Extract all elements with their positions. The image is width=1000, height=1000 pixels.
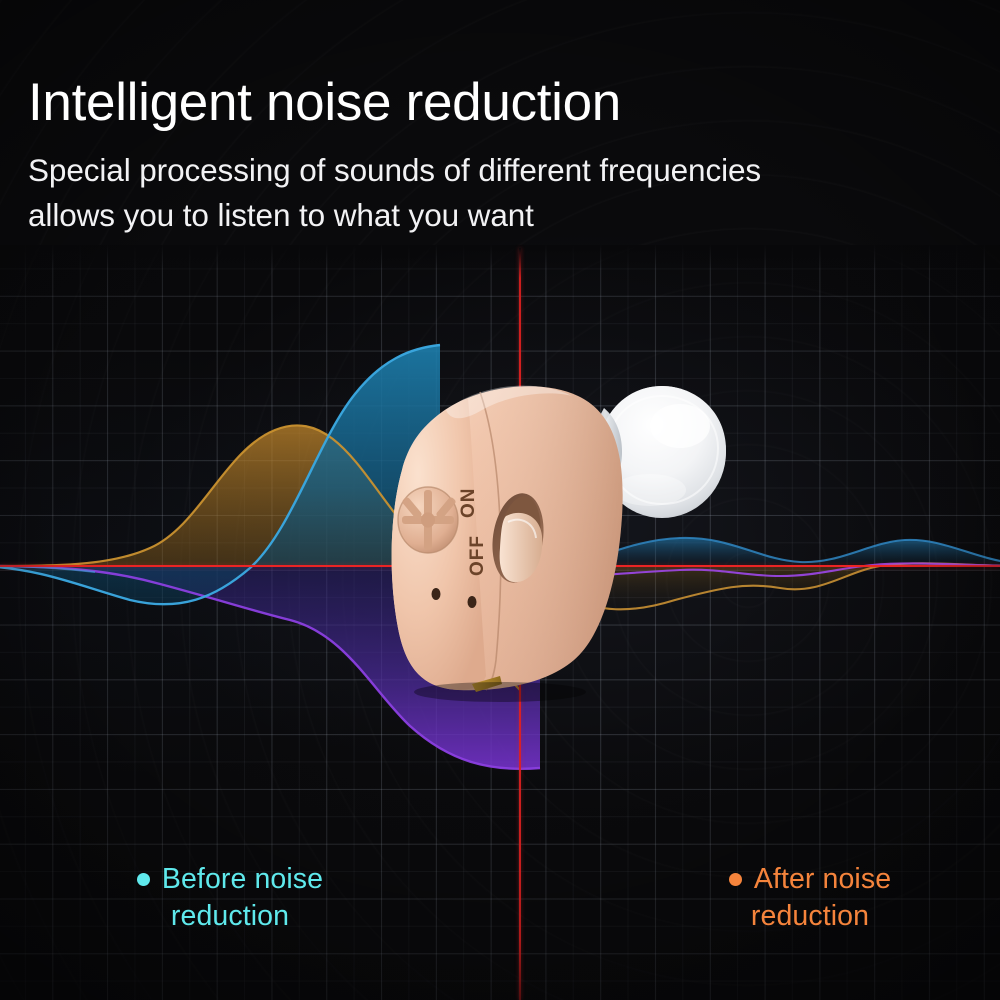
legend-before-line-2: reduction [60, 898, 400, 935]
legend-after-line-1: After noise [729, 863, 891, 895]
subtitle-line-1: Special processing of sounds of differen… [28, 148, 908, 193]
page-title: Intelligent noise reduction [28, 74, 968, 132]
bullet-dot-icon [729, 873, 742, 886]
bullet-dot-icon [137, 873, 150, 886]
legend-before-line-1: Before noise [137, 863, 323, 895]
volume-wheel[interactable] [398, 487, 458, 553]
page-subtitle: Special processing of sounds of differen… [28, 148, 908, 238]
legend-after-noise-reduction: After noise reduction [640, 861, 980, 935]
hearing-aid-body: ON OFF [392, 386, 623, 702]
switch-label-off: OFF [467, 535, 488, 576]
legend-before-label: Before noise [162, 863, 323, 895]
hearing-aid-device: ON OFF [350, 340, 770, 720]
promo-banner: ON OFF Intelligent noise reduction Speci… [0, 0, 1000, 1000]
switch-label-on: ON [458, 488, 479, 519]
legend-after-label: After noise [754, 863, 891, 895]
legend-after-line-2: reduction [640, 898, 980, 935]
microphone-port [432, 588, 441, 600]
subtitle-line-2: allows you to listen to what you want [28, 193, 908, 238]
legend-before-noise-reduction: Before noise reduction [60, 861, 400, 935]
headline-block: Intelligent noise reduction Special proc… [28, 74, 968, 238]
programme-port [468, 596, 477, 608]
